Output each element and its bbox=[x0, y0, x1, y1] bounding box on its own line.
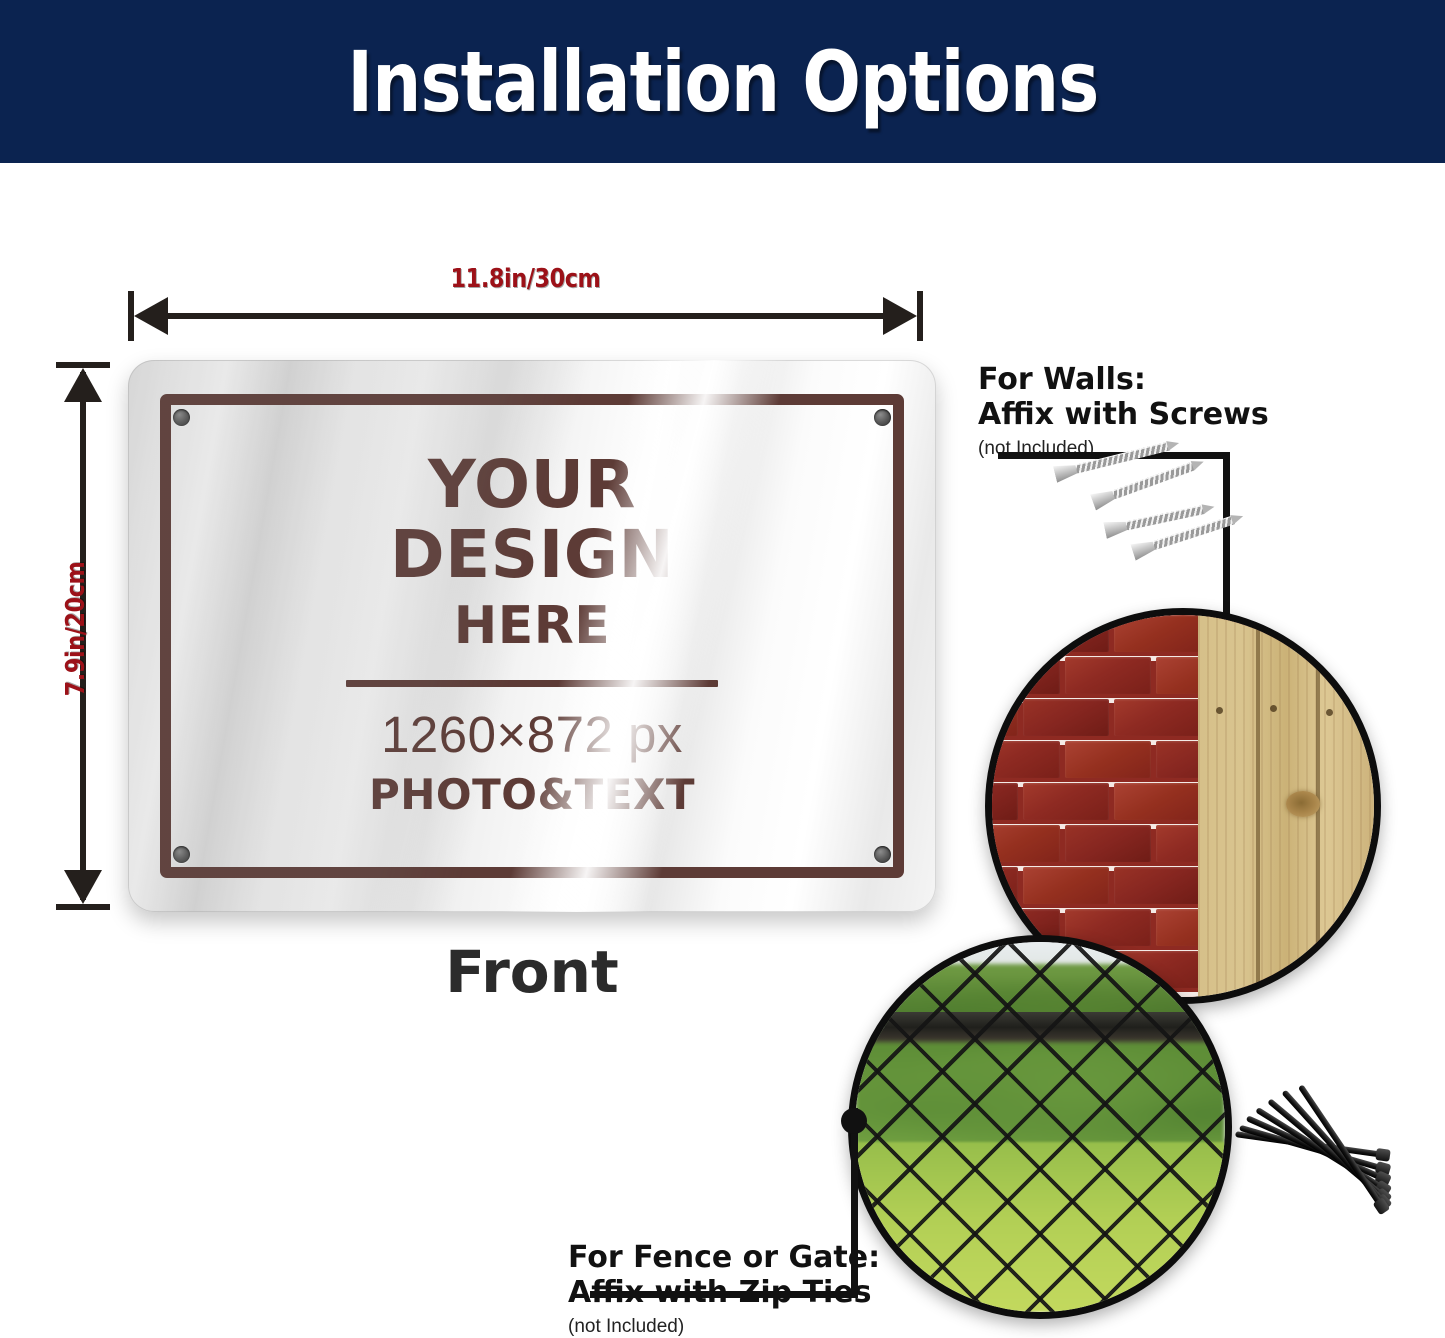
fence-leader-vertical bbox=[851, 1108, 858, 1298]
height-dimension: 7.9in/20cm bbox=[48, 362, 118, 910]
fence-callout-note: (not Included) bbox=[568, 1316, 880, 1338]
mounting-hole-top-right bbox=[874, 409, 891, 426]
zip-tie-head bbox=[1375, 1148, 1391, 1162]
sign-plate-front: YOUR DESIGN HERE 1260×872 px PHOTO&TEXT bbox=[128, 360, 936, 912]
screw-tip bbox=[1202, 502, 1216, 514]
screws-illustration bbox=[1047, 462, 1242, 574]
wood-nail-hole bbox=[1270, 705, 1277, 712]
chain-link-fence-photo bbox=[848, 935, 1232, 1319]
page-title: Installation Options bbox=[347, 33, 1098, 131]
mounting-hole-top-left bbox=[173, 409, 190, 426]
width-dimension-label: 11.8in/30cm bbox=[184, 264, 868, 294]
zip-ties-illustration bbox=[1212, 1142, 1402, 1272]
width-dimension: 11.8in/30cm bbox=[128, 272, 923, 332]
arrow-down-icon bbox=[64, 870, 102, 904]
screw-icon bbox=[1131, 546, 1135, 558]
fence-leader-line bbox=[590, 1108, 864, 1298]
arrow-right-icon bbox=[883, 297, 917, 335]
header-banner: Installation Options bbox=[0, 0, 1445, 163]
wood-fence-texture bbox=[1198, 615, 1374, 997]
sign-inner-border bbox=[160, 394, 904, 878]
arrow-left-icon bbox=[134, 297, 168, 335]
walls-callout-title-line1: For Walls: bbox=[978, 362, 1269, 397]
wood-nail-hole bbox=[1216, 707, 1223, 714]
fence-leader-horizontal bbox=[590, 1291, 858, 1298]
screw-icon bbox=[1091, 496, 1095, 508]
screw-shank bbox=[1112, 461, 1196, 499]
wood-knot bbox=[1286, 791, 1320, 817]
screw-icon bbox=[1104, 524, 1107, 537]
screw-tip bbox=[1230, 511, 1245, 524]
front-view-label: Front bbox=[128, 938, 936, 1006]
wood-nail-hole bbox=[1326, 709, 1333, 716]
arrow-up-icon bbox=[64, 368, 102, 402]
height-dimension-cap-bottom bbox=[56, 904, 110, 910]
chain-link-mesh bbox=[855, 942, 1225, 1312]
width-dimension-bar bbox=[140, 313, 911, 319]
mounting-hole-bottom-right bbox=[874, 846, 891, 863]
screw-icon bbox=[1053, 468, 1056, 481]
walls-callout-title-line2: Affix with Screws bbox=[978, 397, 1269, 432]
walls-callout: For Walls: Affix with Screws (not Includ… bbox=[978, 362, 1269, 460]
screw-shank bbox=[1126, 505, 1206, 530]
width-dimension-cap-right bbox=[917, 291, 923, 341]
wood-plank-gap bbox=[1256, 615, 1260, 997]
fence-leader-endpoint-dot bbox=[841, 1108, 867, 1134]
mounting-hole-bottom-left bbox=[173, 846, 190, 863]
height-dimension-label: 7.9in/20cm bbox=[61, 414, 91, 844]
